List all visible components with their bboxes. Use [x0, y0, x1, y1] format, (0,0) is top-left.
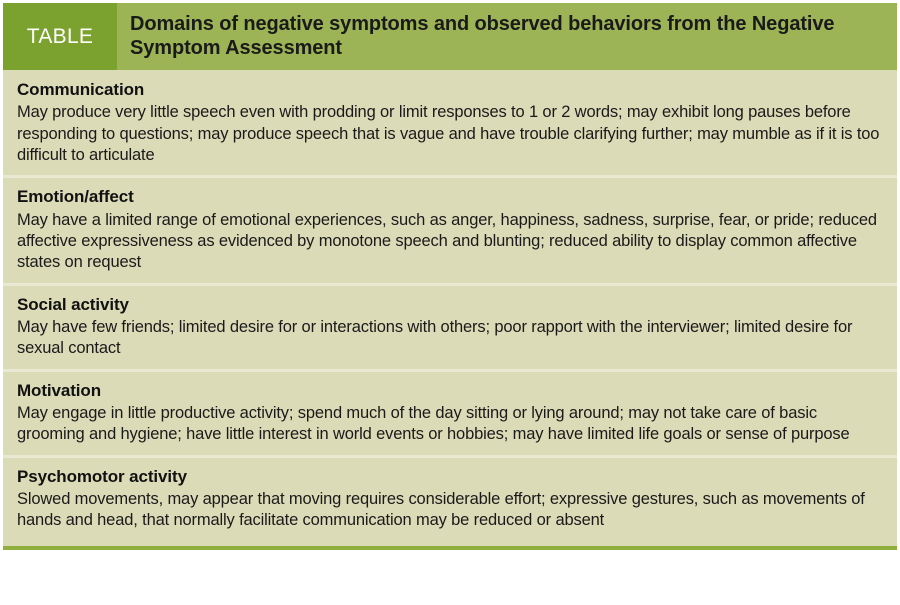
row-domain-label: Communication — [17, 79, 883, 101]
row-domain-label: Psychomotor activity — [17, 466, 883, 488]
table-footer-rule — [3, 546, 897, 550]
table-title-text: Domains of negative symptoms and observe… — [130, 13, 883, 60]
row-domain-label: Motivation — [17, 380, 883, 402]
row-description-text: May have few friends; limited desire for… — [17, 317, 883, 360]
table-row: Communication May produce very little sp… — [3, 70, 897, 178]
table-row: Psychomotor activity Slowed movements, m… — [3, 458, 897, 546]
table-figure: TABLE Domains of negative symptoms and o… — [0, 3, 900, 605]
row-description-text: May have a limited range of emotional ex… — [17, 210, 883, 274]
row-domain-label: Emotion/affect — [17, 186, 883, 208]
table-row: Emotion/affect May have a limited range … — [3, 178, 897, 285]
table-label-block: TABLE — [3, 3, 117, 70]
table-title-block: Domains of negative symptoms and observe… — [117, 3, 897, 70]
row-domain-label: Social activity — [17, 294, 883, 316]
table-row: Social activity May have few friends; li… — [3, 286, 897, 372]
table-body: Communication May produce very little sp… — [3, 70, 897, 546]
row-description-text: May produce very little speech even with… — [17, 102, 883, 166]
row-description-text: May engage in little productive activity… — [17, 403, 883, 446]
row-description-text: Slowed movements, may appear that moving… — [17, 489, 883, 532]
table-header: TABLE Domains of negative symptoms and o… — [3, 3, 897, 70]
table-row: Motivation May engage in little producti… — [3, 372, 897, 458]
table-label-text: TABLE — [27, 26, 93, 47]
